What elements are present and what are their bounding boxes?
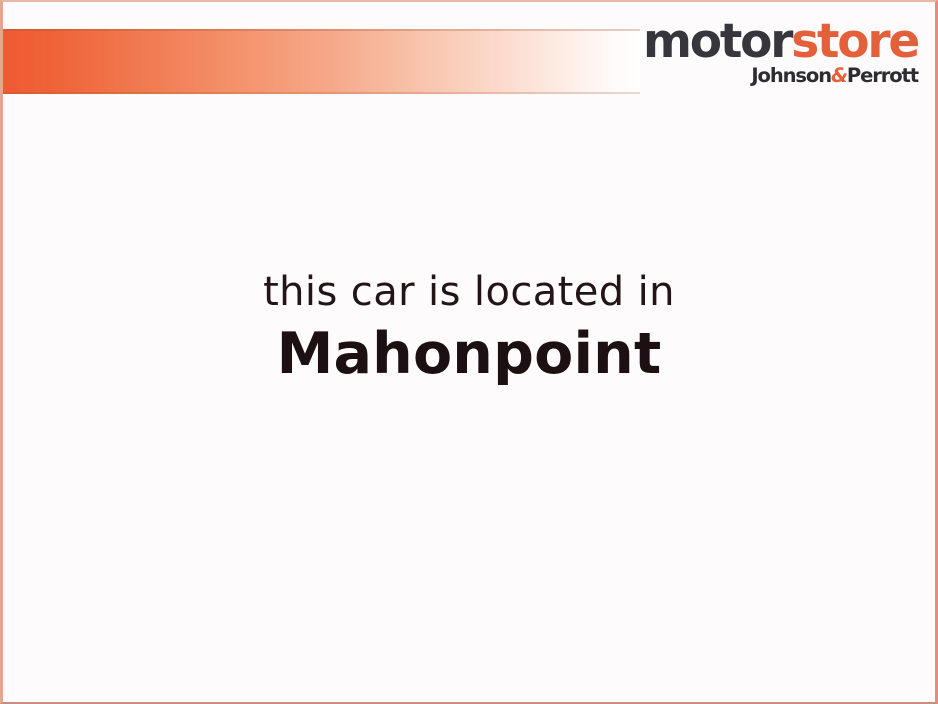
intro-line: this car is located in	[3, 270, 935, 315]
logo-word-store: store	[791, 14, 918, 69]
tagline-johnson: Johnson	[751, 64, 831, 87]
slide-canvas: motorstore Johnson&Perrott this car is l…	[0, 0, 938, 704]
logo-wordmark: motorstore	[643, 18, 918, 65]
location-message: this car is located in Mahonpoint	[3, 270, 935, 387]
header-band: motorstore Johnson&Perrott	[3, 2, 935, 102]
motorstore-logo: motorstore Johnson&Perrott	[643, 18, 918, 86]
location-name: Mahonpoint	[3, 323, 935, 387]
tagline-perrott: Perrott	[847, 64, 918, 87]
tagline-ampersand: &	[831, 64, 847, 87]
orange-gradient-bar	[0, 29, 640, 94]
logo-word-motor: motor	[643, 14, 791, 69]
